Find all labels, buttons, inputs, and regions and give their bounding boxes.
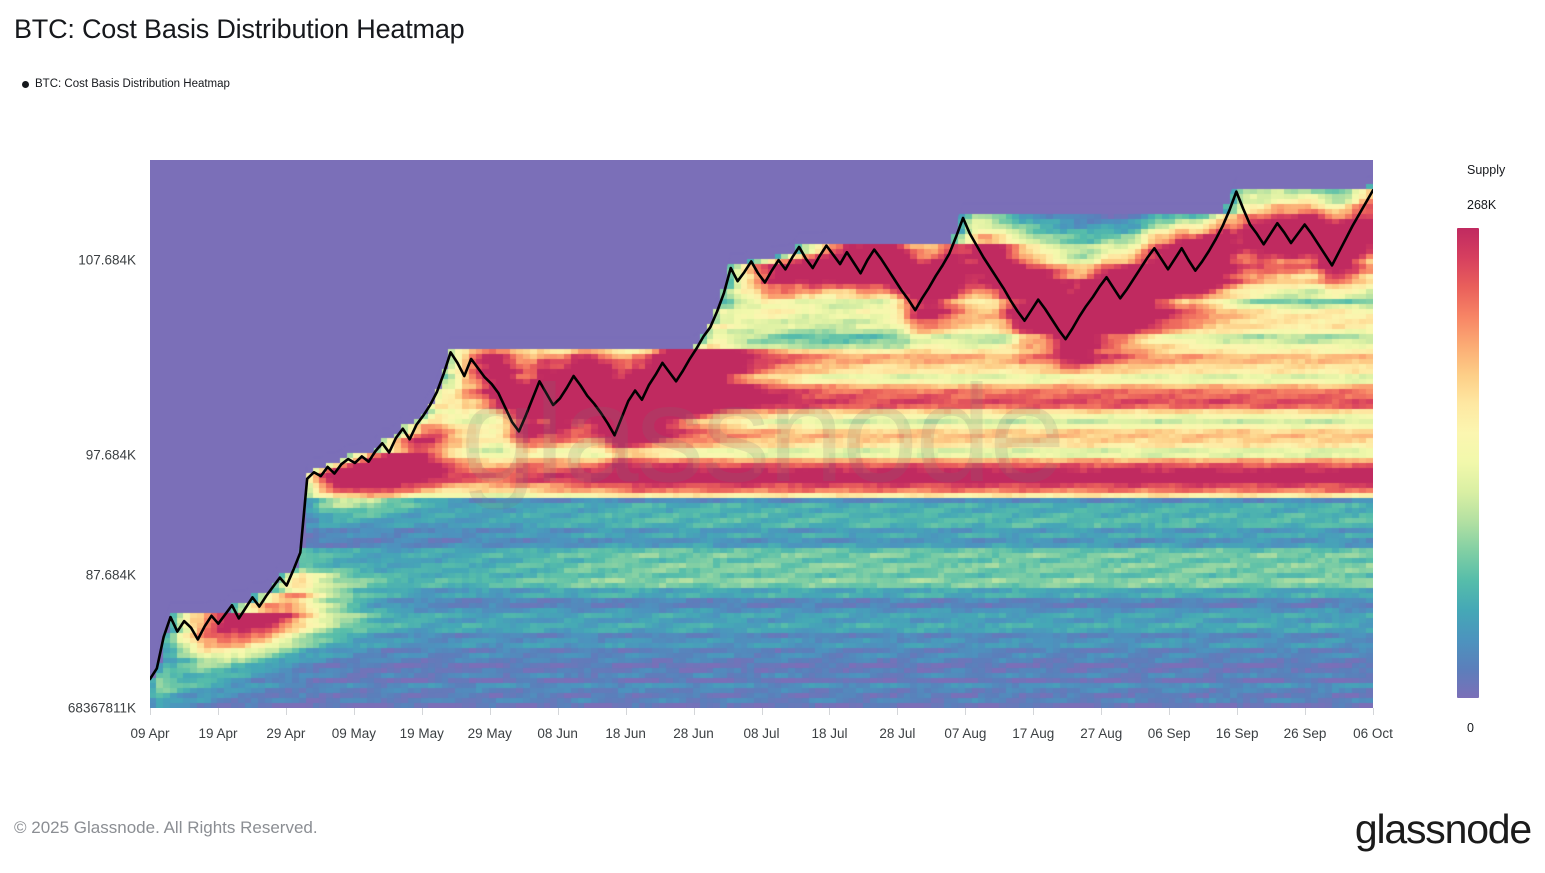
x-axis-tick-label: 18 Jun xyxy=(605,726,646,741)
x-axis-tick-mark xyxy=(1101,708,1102,715)
x-axis-tick-mark xyxy=(965,708,966,715)
legend-item-label: BTC: Cost Basis Distribution Heatmap xyxy=(35,78,230,90)
x-axis-tick-label: 18 Jul xyxy=(811,726,847,741)
x-axis-tick-mark xyxy=(1237,708,1238,715)
x-axis-tick-label: 08 Jul xyxy=(743,726,779,741)
chart-page: BTC: Cost Basis Distribution Heatmap BTC… xyxy=(0,0,1545,873)
x-axis-tick-mark xyxy=(558,708,559,715)
x-axis-tick-mark xyxy=(490,708,491,715)
x-axis-tick-label: 09 Apr xyxy=(130,726,169,741)
x-axis: 09 Apr19 Apr29 Apr09 May19 May29 May08 J… xyxy=(150,708,1373,754)
page-title: BTC: Cost Basis Distribution Heatmap xyxy=(14,14,464,45)
x-axis-tick-label: 06 Sep xyxy=(1148,726,1191,741)
legend-marker-dot xyxy=(22,81,29,88)
x-axis-tick-label: 19 Apr xyxy=(198,726,237,741)
x-axis-tick-label: 09 May xyxy=(332,726,376,741)
y-axis-tick-label: 68367811K xyxy=(68,701,136,716)
colorbar-max-label: 268K xyxy=(1467,198,1496,212)
x-axis-tick-label: 28 Jul xyxy=(879,726,915,741)
y-axis-tick-label: 97.684K xyxy=(86,448,136,463)
x-axis-tick-mark xyxy=(694,708,695,715)
copyright-text: © 2025 Glassnode. All Rights Reserved. xyxy=(14,818,318,838)
x-axis-tick-mark xyxy=(354,708,355,715)
x-axis-tick-mark xyxy=(626,708,627,715)
colorbar-gradient-bar xyxy=(1457,228,1479,698)
x-axis-tick-mark xyxy=(897,708,898,715)
colorbar-title: Supply xyxy=(1467,163,1505,177)
y-axis: 107.684K97.684K87.684K68367811K xyxy=(0,160,144,708)
colorbar-min-label: 0 xyxy=(1467,721,1474,735)
x-axis-tick-label: 06 Oct xyxy=(1353,726,1393,741)
x-axis-tick-mark xyxy=(762,708,763,715)
x-axis-tick-label: 16 Sep xyxy=(1216,726,1259,741)
x-axis-tick-label: 29 Apr xyxy=(266,726,305,741)
heatmap-canvas[interactable] xyxy=(150,160,1373,708)
x-axis-tick-label: 28 Jun xyxy=(673,726,714,741)
x-axis-tick-mark xyxy=(1033,708,1034,715)
colorbar: Supply 268K 0 xyxy=(1410,160,1545,750)
x-axis-tick-mark xyxy=(422,708,423,715)
glassnode-logo: glassnode xyxy=(1355,806,1531,853)
x-axis-tick-mark xyxy=(829,708,830,715)
x-axis-tick-mark xyxy=(150,708,151,715)
x-axis-tick-mark xyxy=(218,708,219,715)
x-axis-tick-label: 17 Aug xyxy=(1012,726,1054,741)
heatmap-plot-area[interactable] xyxy=(150,160,1373,708)
x-axis-tick-label: 26 Sep xyxy=(1284,726,1327,741)
x-axis-tick-mark xyxy=(1305,708,1306,715)
x-axis-tick-mark xyxy=(1169,708,1170,715)
y-axis-tick-label: 107.684K xyxy=(78,252,136,267)
x-axis-tick-mark xyxy=(286,708,287,715)
x-axis-tick-label: 19 May xyxy=(400,726,444,741)
x-axis-tick-mark xyxy=(1373,708,1374,715)
x-axis-tick-label: 08 Jun xyxy=(537,726,578,741)
x-axis-tick-label: 07 Aug xyxy=(944,726,986,741)
chart-legend: BTC: Cost Basis Distribution Heatmap xyxy=(22,78,230,90)
x-axis-tick-label: 27 Aug xyxy=(1080,726,1122,741)
y-axis-tick-label: 87.684K xyxy=(86,568,136,583)
x-axis-tick-label: 29 May xyxy=(468,726,512,741)
